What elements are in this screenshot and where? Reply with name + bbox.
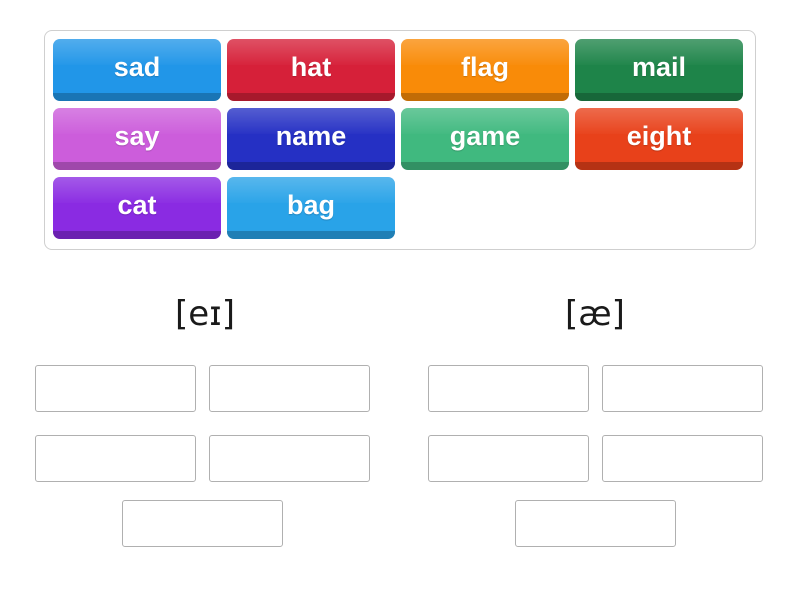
word-tile-eight[interactable]: eight <box>575 108 743 170</box>
dropzone-cat2-slot5[interactable] <box>515 500 676 547</box>
word-tile-name[interactable]: name <box>227 108 395 170</box>
word-tile-flag[interactable]: flag <box>401 39 569 101</box>
dropzone-cat1-slot3[interactable] <box>35 435 196 482</box>
tile-row: catbag <box>53 177 755 246</box>
tile-row: sadhatflagmail <box>53 39 755 108</box>
word-tile-label: bag <box>287 192 335 219</box>
word-tile-game[interactable]: game <box>401 108 569 170</box>
word-tile-label: say <box>114 123 159 150</box>
word-tile-label: mail <box>632 54 686 81</box>
dropzone-cat2-slot1[interactable] <box>428 365 589 412</box>
word-tile-label: name <box>276 123 347 150</box>
dropzone-cat1-slot1[interactable] <box>35 365 196 412</box>
word-tile-bag[interactable]: bag <box>227 177 395 239</box>
dropzone-cat1-slot5[interactable] <box>122 500 283 547</box>
word-tile-label: sad <box>114 54 161 81</box>
word-tile-mail[interactable]: mail <box>575 39 743 101</box>
word-tile-sad[interactable]: sad <box>53 39 221 101</box>
word-tile-label: cat <box>117 192 156 219</box>
dropzone-cat2-slot4[interactable] <box>602 435 763 482</box>
word-tile-label: game <box>450 123 521 150</box>
dropzone-cat1-slot4[interactable] <box>209 435 370 482</box>
word-tile-say[interactable]: say <box>53 108 221 170</box>
dropzone-cat1-slot2[interactable] <box>209 365 370 412</box>
category-heading-1: [eɪ] <box>15 296 395 333</box>
word-tile-hat[interactable]: hat <box>227 39 395 101</box>
word-tile-cat[interactable]: cat <box>53 177 221 239</box>
word-bank-container: sadhatflagmailsaynamegameeightcatbag <box>44 30 756 250</box>
word-tile-label: hat <box>291 54 332 81</box>
dropzone-cat2-slot3[interactable] <box>428 435 589 482</box>
dropzone-cat2-slot2[interactable] <box>602 365 763 412</box>
tile-row: saynamegameeight <box>53 108 755 177</box>
word-tile-label: eight <box>627 123 692 150</box>
word-tile-label: flag <box>461 54 509 81</box>
category-heading-2: [æ] <box>405 296 785 333</box>
